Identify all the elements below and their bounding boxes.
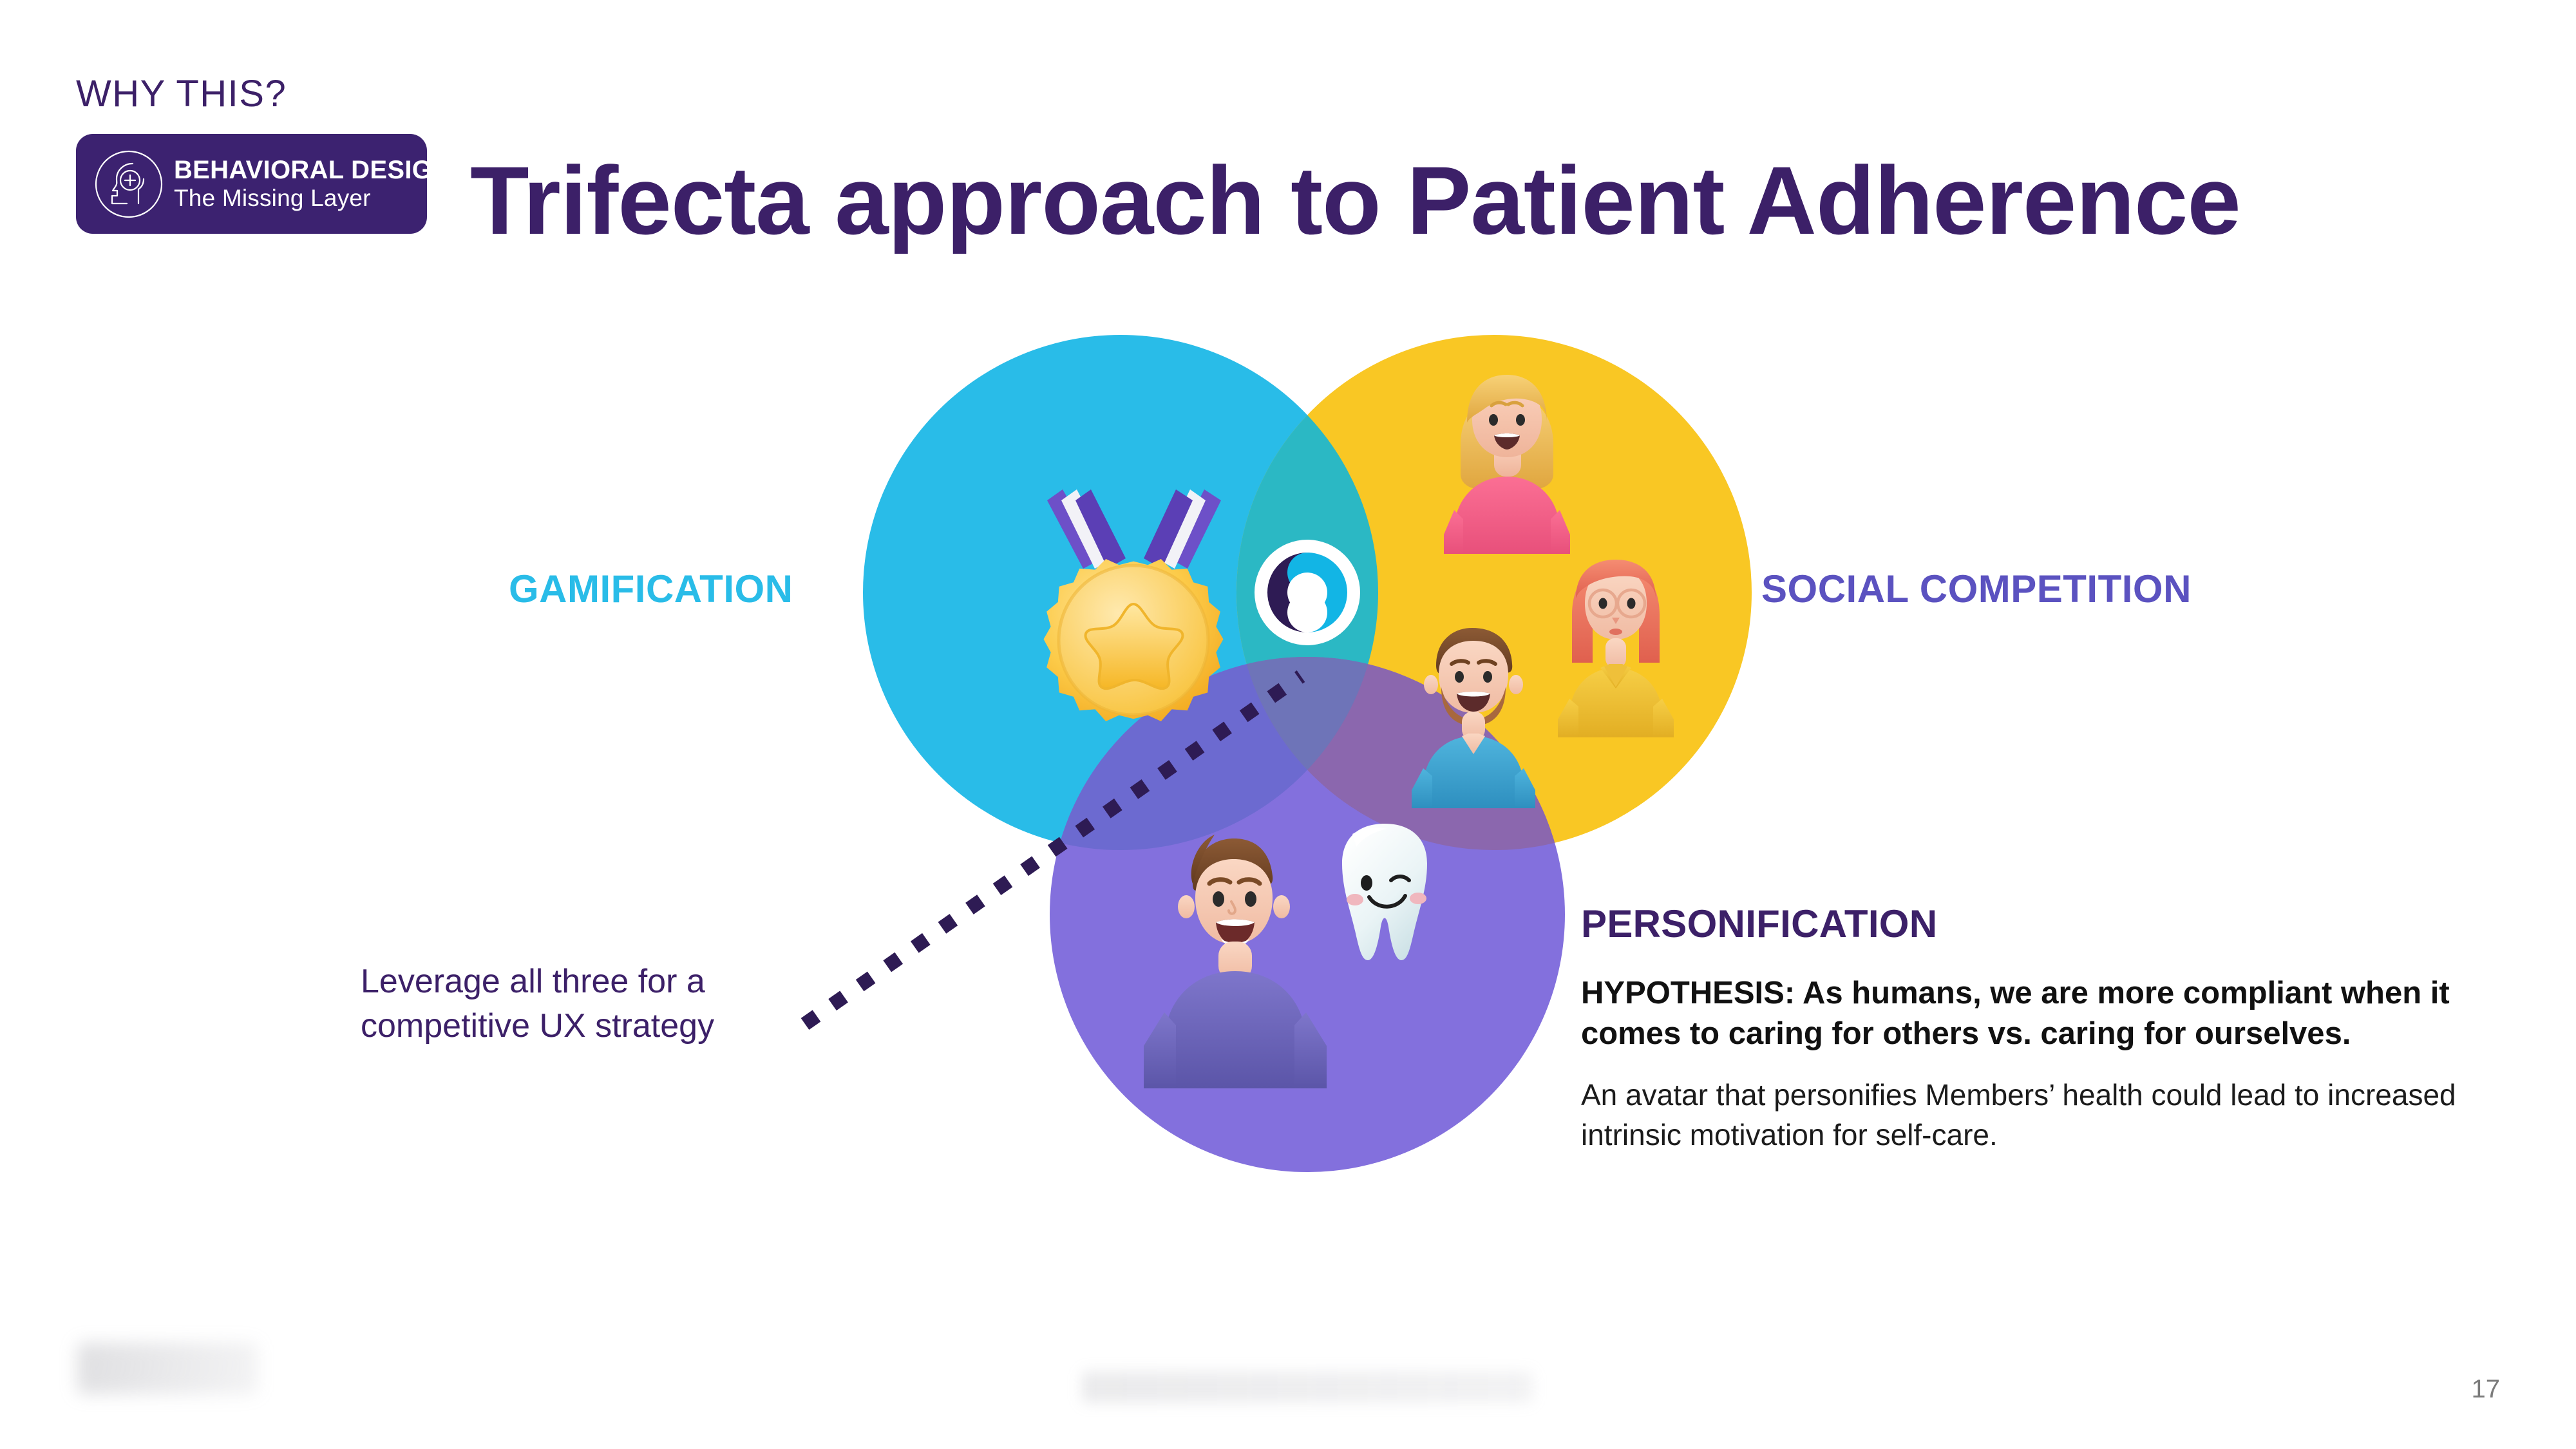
page-number: 17 [2472,1375,2501,1404]
eyebrow-label: WHY THIS? [76,72,287,115]
leverage-caption-line1: Leverage all three for a [361,963,705,1000]
hypothesis-text: HYPOTHESIS: As humans, we are more compl… [1581,973,2528,1054]
head-plus-icon [93,148,165,220]
personification-body-text: An avatar that personifies Members’ heal… [1581,1075,2528,1154]
venn-label-social-competition: SOCIAL COMPETITION [1761,567,2192,611]
slide-canvas: WHY THIS? BEHAVIORAL DESIGN The Missing … [0,0,2576,1449]
badge-title: BEHAVIORAL DESIGN [174,156,451,184]
behavioral-design-badge: BEHAVIORAL DESIGN The Missing Layer [76,134,427,234]
page-title: Trifecta approach to Patient Adherence [470,145,2240,256]
dotted-leader-line [792,663,1340,1050]
footer-confidential-redacted [1082,1372,1533,1403]
footer-logo-redacted [77,1343,258,1394]
badge-subtitle: The Missing Layer [174,185,371,211]
personification-panel: PERSONIFICATION HYPOTHESIS: As humans, w… [1581,902,2528,1155]
personification-heading: PERSONIFICATION [1581,902,2528,946]
two-tone-ring-icon [1255,540,1360,645]
leverage-caption-line2: competitive UX strategy [361,1007,714,1045]
venn-label-gamification: GAMIFICATION [509,567,793,611]
leverage-caption: Leverage all three for a competitive UX … [361,960,824,1048]
